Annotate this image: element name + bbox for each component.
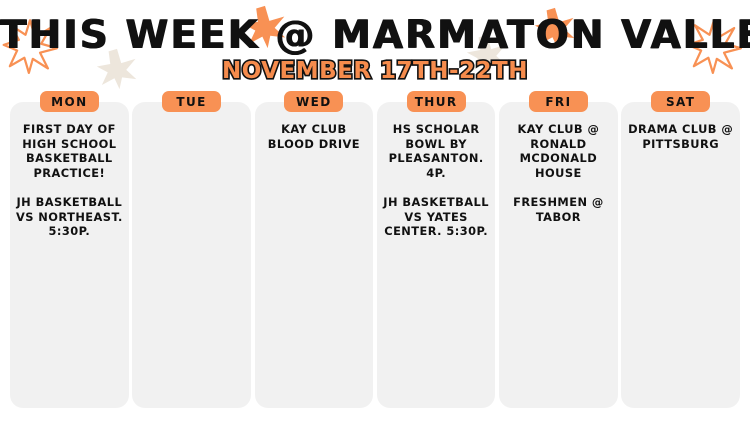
day-column-mon: MON FIRST DAY OF HIGH SCHOOL BASKETBALL … [10, 91, 129, 411]
poster-header: THIS WEEK @ MARMATON VALLEY NOVEMBER 17T… [0, 0, 750, 92]
day-events-thur: HS SCHOLAR BOWL BY PLEASANTON. 4P. JH BA… [382, 122, 491, 239]
day-pill-wed[interactable]: WED [284, 91, 343, 112]
day-card-tue[interactable] [132, 102, 251, 408]
day-card-mon[interactable]: FIRST DAY OF HIGH SCHOOL BASKETBALL PRAC… [10, 102, 129, 408]
day-pill-mon[interactable]: MON [40, 91, 99, 112]
day-card-sat[interactable]: DRAMA CLUB @ PITTSBURG [621, 102, 740, 408]
weekly-schedule-poster: THIS WEEK @ MARMATON VALLEY NOVEMBER 17T… [0, 0, 750, 422]
day-card-thur[interactable]: HS SCHOLAR BOWL BY PLEASANTON. 4P. JH BA… [377, 102, 496, 408]
day-pill-sat[interactable]: SAT [651, 91, 710, 112]
page-title: THIS WEEK @ MARMATON VALLEY [0, 15, 750, 57]
day-card-wed[interactable]: KAY CLUB BLOOD DRIVE [255, 102, 374, 408]
day-column-tue: TUE [132, 91, 251, 411]
week-grid: MON FIRST DAY OF HIGH SCHOOL BASKETBALL … [10, 91, 740, 411]
day-pill-tue[interactable]: TUE [162, 91, 221, 112]
day-column-fri: FRI KAY CLUB @ RONALD MCDONALD HOUSE FRE… [499, 91, 618, 411]
day-pill-fri[interactable]: FRI [529, 91, 588, 112]
day-column-wed: WED KAY CLUB BLOOD DRIVE [255, 91, 374, 411]
day-column-sat: SAT DRAMA CLUB @ PITTSBURG [621, 91, 740, 411]
day-events-sat: DRAMA CLUB @ PITTSBURG [626, 122, 735, 151]
date-range-subtitle: NOVEMBER 17TH-22TH [0, 58, 750, 84]
day-column-thur: THUR HS SCHOLAR BOWL BY PLEASANTON. 4P. … [377, 91, 496, 411]
day-pill-thur[interactable]: THUR [407, 91, 466, 112]
day-events-wed: KAY CLUB BLOOD DRIVE [260, 122, 369, 151]
day-events-fri: KAY CLUB @ RONALD MCDONALD HOUSE FRESHME… [504, 122, 613, 224]
day-events-mon: FIRST DAY OF HIGH SCHOOL BASKETBALL PRAC… [15, 122, 124, 239]
day-events-tue [137, 122, 246, 123]
day-card-fri[interactable]: KAY CLUB @ RONALD MCDONALD HOUSE FRESHME… [499, 102, 618, 408]
